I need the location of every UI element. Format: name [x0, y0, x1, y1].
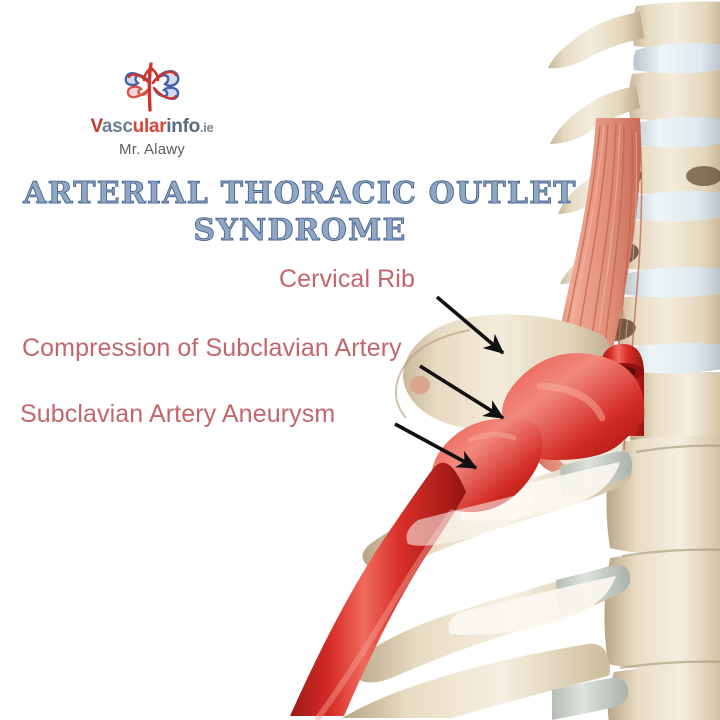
page-title: ARTERIAL THORACIC OUTLET SYNDROME: [0, 176, 600, 249]
page-title-line-2: SYNDROME: [0, 213, 600, 250]
callout-label-subclavian-artery-aneurysm: Subclavian Artery Aneurysm: [20, 400, 335, 429]
brand-wordmark: Vascularinfo.ie: [62, 117, 242, 136]
wordmark-info: info: [166, 116, 200, 137]
wordmark-tld: .ie: [200, 120, 214, 135]
wordmark-asc: asc: [102, 116, 133, 137]
wordmark-ular: ular: [133, 116, 167, 137]
four-petal-flower-logo-icon: [120, 58, 184, 116]
brand-subtitle: Mr. Alawy: [62, 141, 242, 158]
brand-logo[interactable]: Vascularinfo.ie Mr. Alawy: [62, 58, 242, 158]
page-title-line-1: ARTERIAL THORACIC OUTLET: [0, 176, 600, 213]
illustration-canvas: Vascularinfo.ie Mr. Alawy ARTERIAL THORA…: [0, 0, 720, 720]
callout-label-compression-of-subclavian-artery: Compression of Subclavian Artery: [22, 334, 402, 363]
wordmark-v: V: [91, 116, 102, 137]
callout-label-cervical-rib: Cervical Rib: [279, 265, 415, 294]
